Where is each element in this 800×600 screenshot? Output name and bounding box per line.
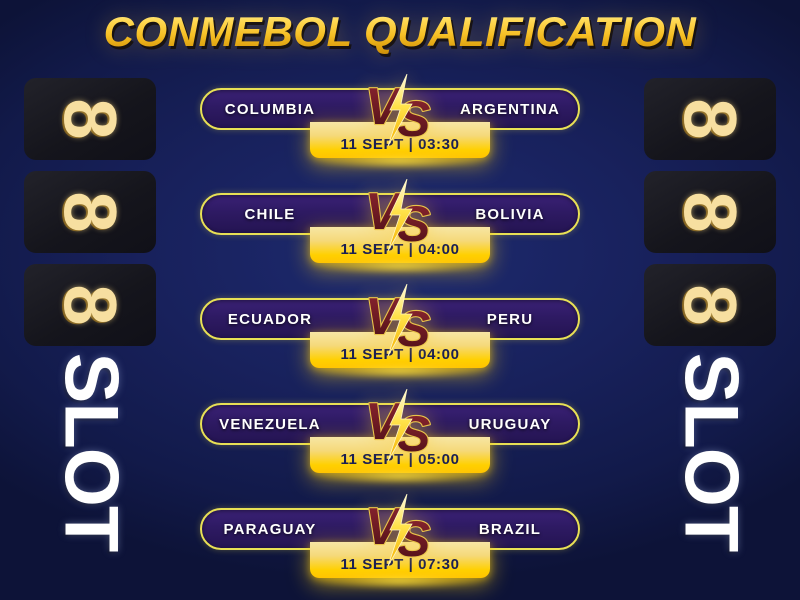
away-team-label: ARGENTINA [390, 101, 578, 118]
brand-eight-glyph: 8 [53, 98, 127, 139]
match-row[interactable]: COLUMBIA ARGENTINA V S 11 SEPT | 03:30 [200, 82, 600, 187]
brand-eight-glyph: 8 [673, 98, 747, 139]
away-team-label: URUGUAY [390, 416, 578, 433]
brand-eight-tile: 8 [24, 264, 156, 346]
brand-slot-label: SLOT [672, 353, 748, 552]
match-row[interactable]: VENEZUELA URUGUAY V S 11 SEPT | 05:00 [200, 397, 600, 502]
brand-panel-left: 8 8 8 SLOT [24, 78, 174, 578]
away-team-label: PERU [390, 311, 578, 328]
brand-eight-tile: 8 [644, 171, 776, 253]
match-row[interactable]: PARAGUAY BRAZIL V S 11 SEPT | 07:30 [200, 502, 600, 600]
brand-slot-label: SLOT [52, 353, 128, 552]
home-team-label: ECUADOR [202, 311, 390, 328]
match-date-banner: 11 SEPT | 04:00 [310, 227, 490, 263]
brand-eight-glyph: 8 [53, 191, 127, 232]
brand-slot-word: SLOT [24, 357, 156, 547]
brand-eight-tile: 8 [24, 171, 156, 253]
brand-eight-glyph: 8 [673, 284, 747, 325]
match-date-banner: 11 SEPT | 05:00 [310, 437, 490, 473]
brand-eight-glyph: 8 [53, 284, 127, 325]
brand-slot-word: SLOT [644, 357, 776, 547]
match-date-banner: 11 SEPT | 07:30 [310, 542, 490, 578]
away-team-label: BRAZIL [390, 521, 578, 538]
match-list: COLUMBIA ARGENTINA V S 11 SEPT | 03:30 C… [200, 82, 600, 600]
brand-eight-tile: 8 [24, 78, 156, 160]
match-row[interactable]: CHILE BOLIVIA V S 11 SEPT | 04:00 [200, 187, 600, 292]
brand-eight-glyph: 8 [673, 191, 747, 232]
brand-eight-tile: 8 [644, 78, 776, 160]
match-row[interactable]: ECUADOR PERU V S 11 SEPT | 04:00 [200, 292, 600, 397]
match-date-banner: 11 SEPT | 03:30 [310, 122, 490, 158]
home-team-label: COLUMBIA [202, 101, 390, 118]
home-team-label: PARAGUAY [202, 521, 390, 538]
match-date-banner: 11 SEPT | 04:00 [310, 332, 490, 368]
brand-eight-tile: 8 [644, 264, 776, 346]
home-team-label: VENEZUELA [202, 416, 390, 433]
away-team-label: BOLIVIA [390, 206, 578, 223]
brand-panel-right: 8 8 8 SLOT [626, 78, 776, 578]
page-title: CONMEBOL QUALIFICATION [0, 8, 800, 56]
fixture-poster: CONMEBOL QUALIFICATION 8 8 8 SLOT 8 8 8 … [0, 0, 800, 600]
home-team-label: CHILE [202, 206, 390, 223]
